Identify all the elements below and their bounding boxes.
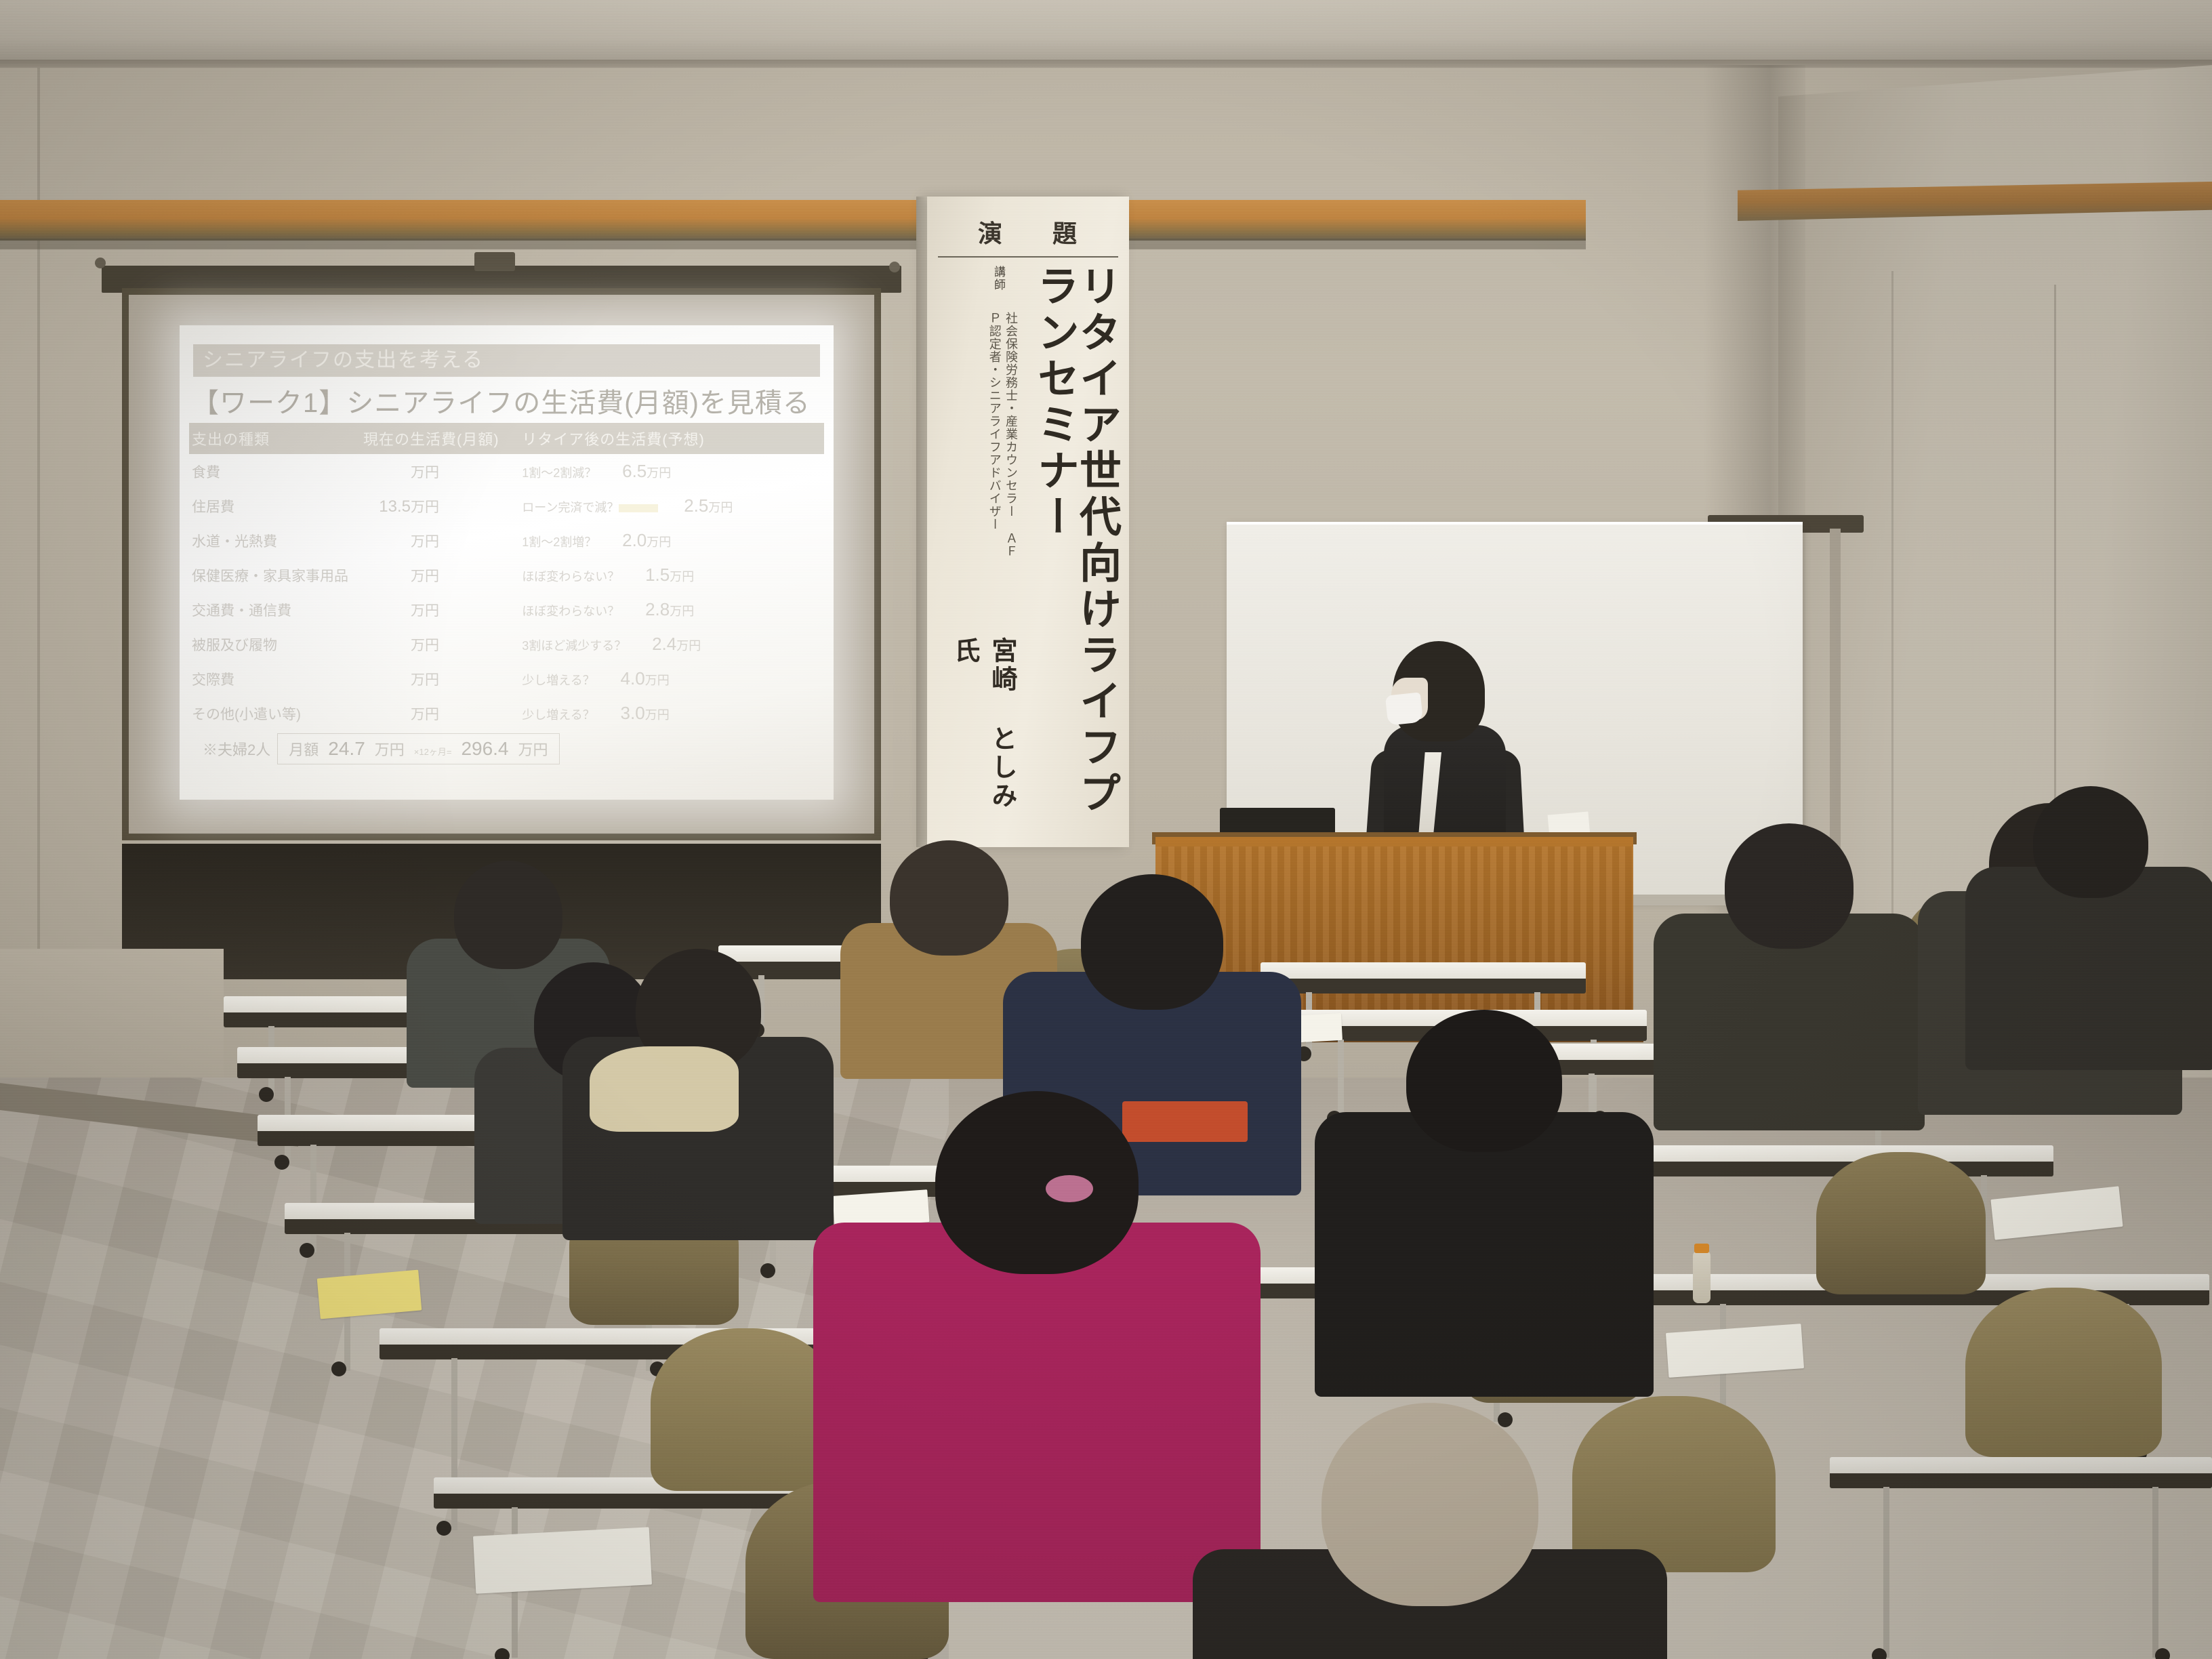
chair	[1965, 1288, 2162, 1457]
slide-banner-text: シニアライフの支出を考える	[193, 344, 820, 377]
total-multiplier: ×12ヶ月=	[414, 745, 452, 758]
left-wall-base	[0, 949, 224, 1098]
row-unit: 万円	[411, 565, 439, 586]
attendee	[1193, 1403, 1667, 1659]
chair	[1816, 1152, 1986, 1294]
attendee-head	[1725, 823, 1853, 949]
row-label: 保健医療・家具家事用品	[189, 558, 361, 592]
handout-paper	[473, 1527, 652, 1593]
col-expense-type: 支出の種類	[189, 423, 361, 454]
row-label: 住居費	[189, 489, 361, 523]
chair	[651, 1328, 840, 1491]
banner-body: リタイア世代向けライフプランセミナー 講師 社会保険労務士・産業カウンセラー Ａ…	[935, 258, 1121, 840]
slide-table-row: 食費万円1割〜2割減？6.5万円	[189, 454, 824, 489]
row-value: 2.4	[626, 634, 676, 655]
total-box: 月額 24.7 万円 ×12ヶ月= 296.4 万円	[277, 733, 559, 764]
bottle-cap	[1694, 1244, 1709, 1253]
row-unit: 万円	[411, 462, 439, 482]
row-note: 1割〜2割減？	[522, 466, 596, 480]
row-value: 6.5	[596, 461, 647, 482]
row-label: 交通費・通信費	[189, 592, 361, 627]
total-prefix: ※夫婦2人	[203, 738, 270, 760]
screen-mount-left	[95, 258, 106, 268]
row-unit2: 万円	[647, 464, 671, 481]
desk-top	[1261, 962, 1586, 980]
banner-header-right: 題	[1052, 214, 1078, 249]
attendee-head	[2033, 786, 2148, 898]
desk-leg	[2152, 1487, 2158, 1658]
row-unit2: 万円	[676, 636, 701, 654]
attendee-torso	[1315, 1112, 1654, 1397]
attendee-head	[890, 840, 1008, 956]
banner-title: リタイア世代向けライフプランセミナー	[1033, 264, 1117, 827]
total-annual-value: 296.4	[461, 738, 508, 760]
presenter-body	[1384, 725, 1506, 847]
slide-table-row: 被服及び履物万円3割ほど減少する？2.4万円	[189, 627, 824, 661]
attendee-head	[1322, 1403, 1538, 1606]
row-unit2: 万円	[670, 567, 694, 585]
row-note: 1割〜2割増？	[522, 535, 596, 549]
row-note: 少し増える？	[522, 708, 594, 722]
slide-surface: シニアライフの支出を考える 【ワーク1】シニアライフの生活費(月額)を見積る 支…	[180, 325, 834, 800]
attendee	[1315, 1010, 1654, 1437]
banner-role-label: 講師	[990, 266, 1007, 291]
row-label: 水道・光熱費	[189, 523, 361, 558]
slide-title: 【ワーク1】シニアライフの生活費(月額)を見積る	[192, 381, 824, 420]
col-retired-cost: リタイア後の生活費(予想)	[519, 423, 824, 454]
attendee-head	[1081, 874, 1223, 1010]
row-unit2: 万円	[645, 671, 670, 689]
projection-screen: シニアライフの支出を考える 【ワーク1】シニアライフの生活費(月額)を見積る 支…	[122, 288, 881, 840]
row-unit: 万円	[411, 634, 439, 655]
slide-table-header: 支出の種類 現在の生活費(月額) リタイア後の生活費(予想)	[189, 423, 824, 454]
row-value: 2.8	[619, 599, 670, 620]
desk-caster	[495, 1648, 510, 1659]
row-note: ローン完済で減？	[522, 501, 619, 514]
row-label: 被服及び履物	[189, 627, 361, 661]
row-label: 食費	[189, 454, 361, 489]
banner-header: 演 題	[935, 214, 1121, 249]
row-unit: 万円	[411, 669, 439, 689]
row-unit: 万円	[411, 600, 439, 620]
attendee-head	[454, 861, 562, 969]
attendee-head	[1406, 1010, 1562, 1152]
slide-total-row: ※夫婦2人 月額 24.7 万円 ×12ヶ月= 296.4 万円	[189, 733, 824, 764]
slide-table-row: 水道・光熱費万円1割〜2割増？2.0万円	[189, 523, 824, 558]
row-unit: 万円	[411, 496, 439, 516]
slide-table-row: 住居費13.5万円ローン完済で減？2.5万円	[189, 489, 824, 523]
attendee	[1654, 823, 1925, 1166]
row-value: 2.5	[658, 495, 708, 516]
seminar-banner: 演 題 リタイア世代向けライフプランセミナー 講師 社会保険労務士・産業カウンセ…	[927, 197, 1129, 847]
attendee	[562, 949, 834, 1274]
slide-table-body: 食費万円1割〜2割減？6.5万円住居費13.5万円ローン完済で減？2.5万円水道…	[189, 454, 824, 731]
row-current: 13.5	[363, 497, 411, 516]
wall-trim-band	[0, 200, 1586, 241]
row-unit: 万円	[411, 531, 439, 551]
desk-top	[1830, 1457, 2212, 1475]
row-unit2: 万円	[645, 705, 670, 723]
banner-credentials: 社会保険労務士・産業カウンセラー ＡＦＰ認定者・シニアライフアドバイザー	[986, 312, 1019, 569]
total-annual-unit: 万円	[518, 738, 548, 760]
total-monthly-label: 月額	[289, 738, 319, 760]
face-mask-icon	[1385, 692, 1423, 725]
desk-leg	[1883, 1487, 1889, 1658]
screen-bracket	[474, 252, 515, 271]
water-bottle	[1693, 1250, 1711, 1303]
seminar-room-photo: シニアライフの支出を考える 【ワーク1】シニアライフの生活費(月額)を見積る 支…	[0, 0, 2212, 1659]
desk-caster	[1872, 1648, 1887, 1659]
handout-paper	[1666, 1324, 1804, 1378]
total-monthly-value: 24.7	[328, 738, 365, 760]
row-unit2: 万円	[670, 602, 694, 619]
total-monthly-unit: 万円	[375, 738, 405, 760]
slide-table-row: 交際費万円少し増える？4.0万円	[189, 661, 824, 696]
row-unit: 万円	[411, 703, 439, 724]
ceiling	[0, 0, 2212, 64]
row-value: 4.0	[595, 668, 645, 689]
row-note: ほぼ変わらない？	[522, 605, 619, 618]
col-current-cost: 現在の生活費(月額)	[361, 423, 519, 454]
desk-caster	[2155, 1648, 2170, 1659]
desk	[1830, 1457, 2212, 1659]
desk-edge	[1261, 979, 1586, 994]
row-value: 3.0	[595, 703, 645, 724]
row-note: ほぼ変わらない？	[522, 570, 619, 583]
wall-trim-shadow	[0, 239, 1586, 249]
row-unit2: 万円	[708, 498, 733, 516]
desk-edge	[1830, 1473, 2212, 1488]
row-note: 3割ほど減少する？	[522, 639, 626, 653]
row-label: 交際費	[189, 661, 361, 696]
row-value: 2.0	[596, 530, 647, 551]
row-highlight	[619, 504, 658, 512]
attendee-head	[935, 1091, 1139, 1274]
slide-table-row: 交通費・通信費万円ほぼ変わらない？2.8万円	[189, 592, 824, 627]
attendee	[1965, 786, 2212, 1101]
slide-table-row: 保健医療・家具家事用品万円ほぼ変わらない？1.5万円	[189, 558, 824, 592]
banner-header-left: 演	[978, 214, 1004, 249]
row-label: その他(小遣い等)	[189, 696, 361, 731]
cream-scarf	[590, 1046, 739, 1132]
row-unit2: 万円	[647, 533, 671, 550]
banner-speaker-name: 宮崎 としみ 氏	[946, 637, 1021, 820]
screen-mount-right	[889, 262, 900, 272]
row-note: 少し増える？	[522, 674, 594, 687]
row-value: 1.5	[619, 565, 670, 586]
slide-table-row: その他(小遣い等)万円少し増える？3.0万円	[189, 696, 824, 731]
slide-table: 支出の種類 現在の生活費(月額) リタイア後の生活費(予想) 食費万円1割〜2割…	[189, 423, 824, 731]
